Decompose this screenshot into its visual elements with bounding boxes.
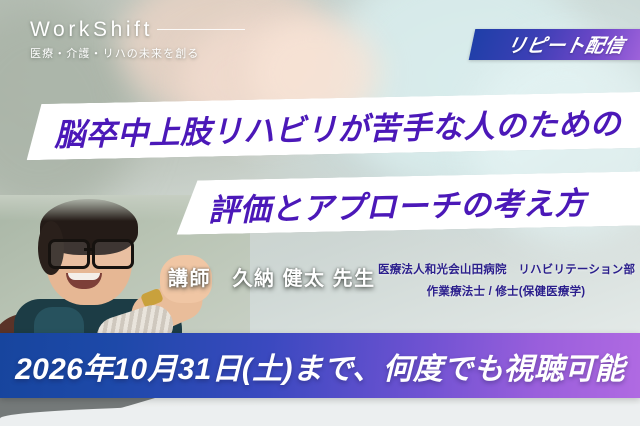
glasses-icon bbox=[48, 239, 132, 263]
availability-text: 2026年10月31日(土)まで、何度でも視聴可能 bbox=[15, 344, 625, 388]
lecturer-name: 講師 久納 健太 先生 bbox=[168, 262, 376, 291]
title-line-2: 評価とアプローチの考え方 bbox=[208, 177, 587, 230]
lecturer-affiliation-block: 医療法人和光会山田病院 リハビリテーション部 作業療法士 / 修士(保健医療学) bbox=[378, 261, 634, 299]
availability-banner: 2026年10月31日(土)まで、何度でも視聴可能 bbox=[0, 333, 640, 398]
glasses-lens-left bbox=[48, 239, 90, 269]
lecturer-affiliation: 医療法人和光会山田病院 リハビリテーション部 bbox=[378, 261, 634, 277]
seminar-poster: WorkShift 医療・介護・リハの未来を創る リピート配信 脳卒中上肢リハビ… bbox=[0, 0, 640, 426]
brand-tagline: 医療・介護・リハの未来を創る bbox=[30, 45, 260, 61]
lecturer-credentials: 作業療法士 / 修士(保健医療学) bbox=[378, 283, 634, 299]
brand-logo: WorkShift 医療・介護・リハの未来を創る bbox=[30, 18, 260, 61]
instructor-teeth bbox=[68, 273, 100, 280]
repeat-badge-label: リピート配信 bbox=[483, 31, 640, 58]
logo-rule bbox=[157, 29, 245, 30]
glasses-lens-right bbox=[92, 239, 134, 269]
title-band-2: 評価とアプローチの考え方 bbox=[176, 171, 640, 235]
glasses-bridge bbox=[84, 248, 94, 251]
title-line-1: 脳卒中上肢リハビリが苦手な人のための bbox=[54, 98, 622, 154]
brand-logo-text: WorkShift bbox=[30, 18, 153, 42]
